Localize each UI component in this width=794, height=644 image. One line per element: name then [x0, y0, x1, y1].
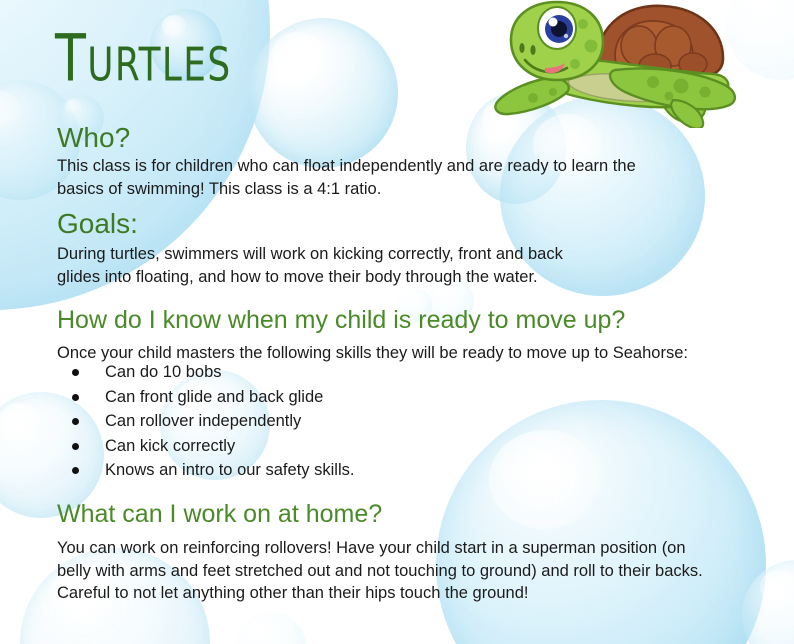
- poster-content: Turtles Who? This class is for children …: [0, 0, 794, 644]
- heading-who: Who?: [57, 122, 130, 154]
- heading-at-home: What can I work on at home?: [57, 500, 382, 529]
- skills-list: Can do 10 bobs Can front glide and back …: [57, 360, 354, 483]
- paragraph-goals: During turtles, swimmers will work on ki…: [57, 243, 563, 288]
- page-title: Turtles: [55, 24, 232, 92]
- list-item: Can rollover independently: [57, 409, 354, 434]
- list-item: Can kick correctly: [57, 434, 354, 459]
- list-item: Can do 10 bobs: [57, 360, 354, 385]
- paragraph-who: This class is for children who can float…: [57, 155, 636, 200]
- paragraph-at-home: You can work on reinforcing rollovers! H…: [57, 537, 703, 605]
- heading-move-up: How do I know when my child is ready to …: [57, 306, 625, 335]
- list-item: Can front glide and back glide: [57, 385, 354, 410]
- poster-page: Turtles Who? This class is for children …: [0, 0, 794, 644]
- heading-goals: Goals:: [57, 208, 138, 240]
- list-item: Knows an intro to our safety skills.: [57, 458, 354, 483]
